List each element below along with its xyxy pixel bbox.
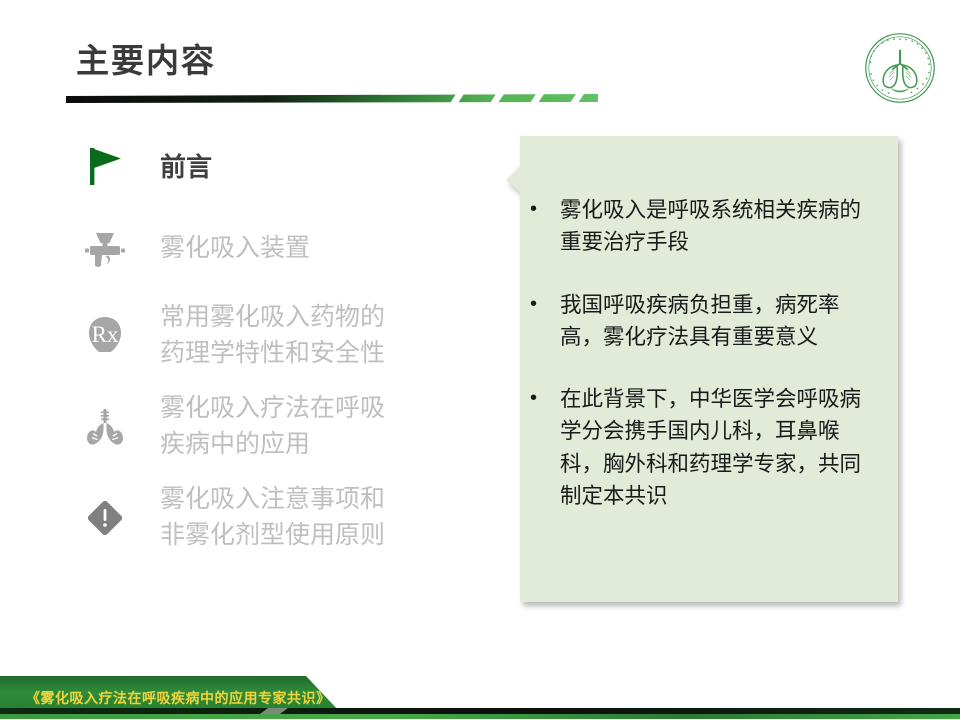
callout-bullet-list: • 雾化吸入是呼吸系统相关疾病的重要治疗手段 • 我国呼吸疾病负担重，病死率高，… — [530, 194, 882, 542]
bullet-glyph: • — [530, 289, 560, 354]
svg-text:Rx: Rx — [92, 322, 119, 347]
list-item: • 在此背景下，中华医学会呼吸病学分会携手国内儿科，耳鼻喉科，胸外科和药理学专家… — [530, 383, 882, 512]
agenda-item-precautions[interactable]: 雾化吸入注意事项和 非雾化剂型使用原则 — [76, 482, 496, 553]
agenda-item-preface[interactable]: 前言 — [76, 136, 496, 198]
list-item: • 雾化吸入是呼吸系统相关疾病的重要治疗手段 — [530, 194, 882, 259]
agenda-item-clinical-application[interactable]: 雾化吸入疗法在呼吸 疾病中的应用 — [76, 391, 496, 462]
agenda-list: 前言 雾化吸入装置 Rx — [76, 136, 496, 573]
slide-footer: 《雾化吸入疗法在呼吸疾病中的应用专家共识》 — [0, 664, 960, 720]
agenda-item-label: 常用雾化吸入药物的 药理学特性和安全性 — [134, 300, 385, 371]
page-title: 主要内容 — [76, 42, 216, 80]
agenda-item-label: 雾化吸入注意事项和 非雾化剂型使用原则 — [134, 482, 385, 553]
bullet-glyph: • — [530, 383, 560, 512]
agenda-item-label: 雾化吸入装置 — [134, 231, 310, 267]
nebulizer-icon — [76, 221, 134, 277]
content-callout-box: • 雾化吸入是呼吸系统相关疾病的重要治疗手段 • 我国呼吸疾病负担重，病死率高，… — [506, 136, 898, 602]
footer-title: 《雾化吸入疗法在呼吸疾病中的应用专家共识》 — [26, 688, 331, 708]
bullet-text: 我国呼吸疾病负担重，病死率高，雾化疗法具有重要意义 — [560, 289, 882, 354]
prescription-rx-icon: Rx — [76, 308, 134, 364]
slide-canvas: 主要内容 — [0, 0, 960, 720]
agenda-item-label: 雾化吸入疗法在呼吸 疾病中的应用 — [134, 391, 385, 462]
warning-diamond-icon — [76, 490, 134, 546]
bullet-text: 在此背景下，中华医学会呼吸病学分会携手国内儿科，耳鼻喉科，胸外科和药理学专家，共… — [560, 383, 882, 512]
agenda-item-nebulizer-devices[interactable]: 雾化吸入装置 — [76, 218, 496, 280]
green-flag-icon — [76, 139, 134, 195]
bullet-text: 雾化吸入是呼吸系统相关疾病的重要治疗手段 — [560, 194, 882, 259]
lung-society-emblem-logo — [862, 30, 938, 106]
agenda-item-label: 前言 — [134, 149, 212, 186]
agenda-item-pharmacology[interactable]: Rx 常用雾化吸入药物的 药理学特性和安全性 — [76, 300, 496, 371]
list-item: • 我国呼吸疾病负担重，病死率高，雾化疗法具有重要意义 — [530, 289, 882, 354]
bullet-glyph: • — [530, 194, 560, 259]
title-underline-decoration — [66, 94, 598, 106]
lungs-icon — [76, 399, 134, 455]
